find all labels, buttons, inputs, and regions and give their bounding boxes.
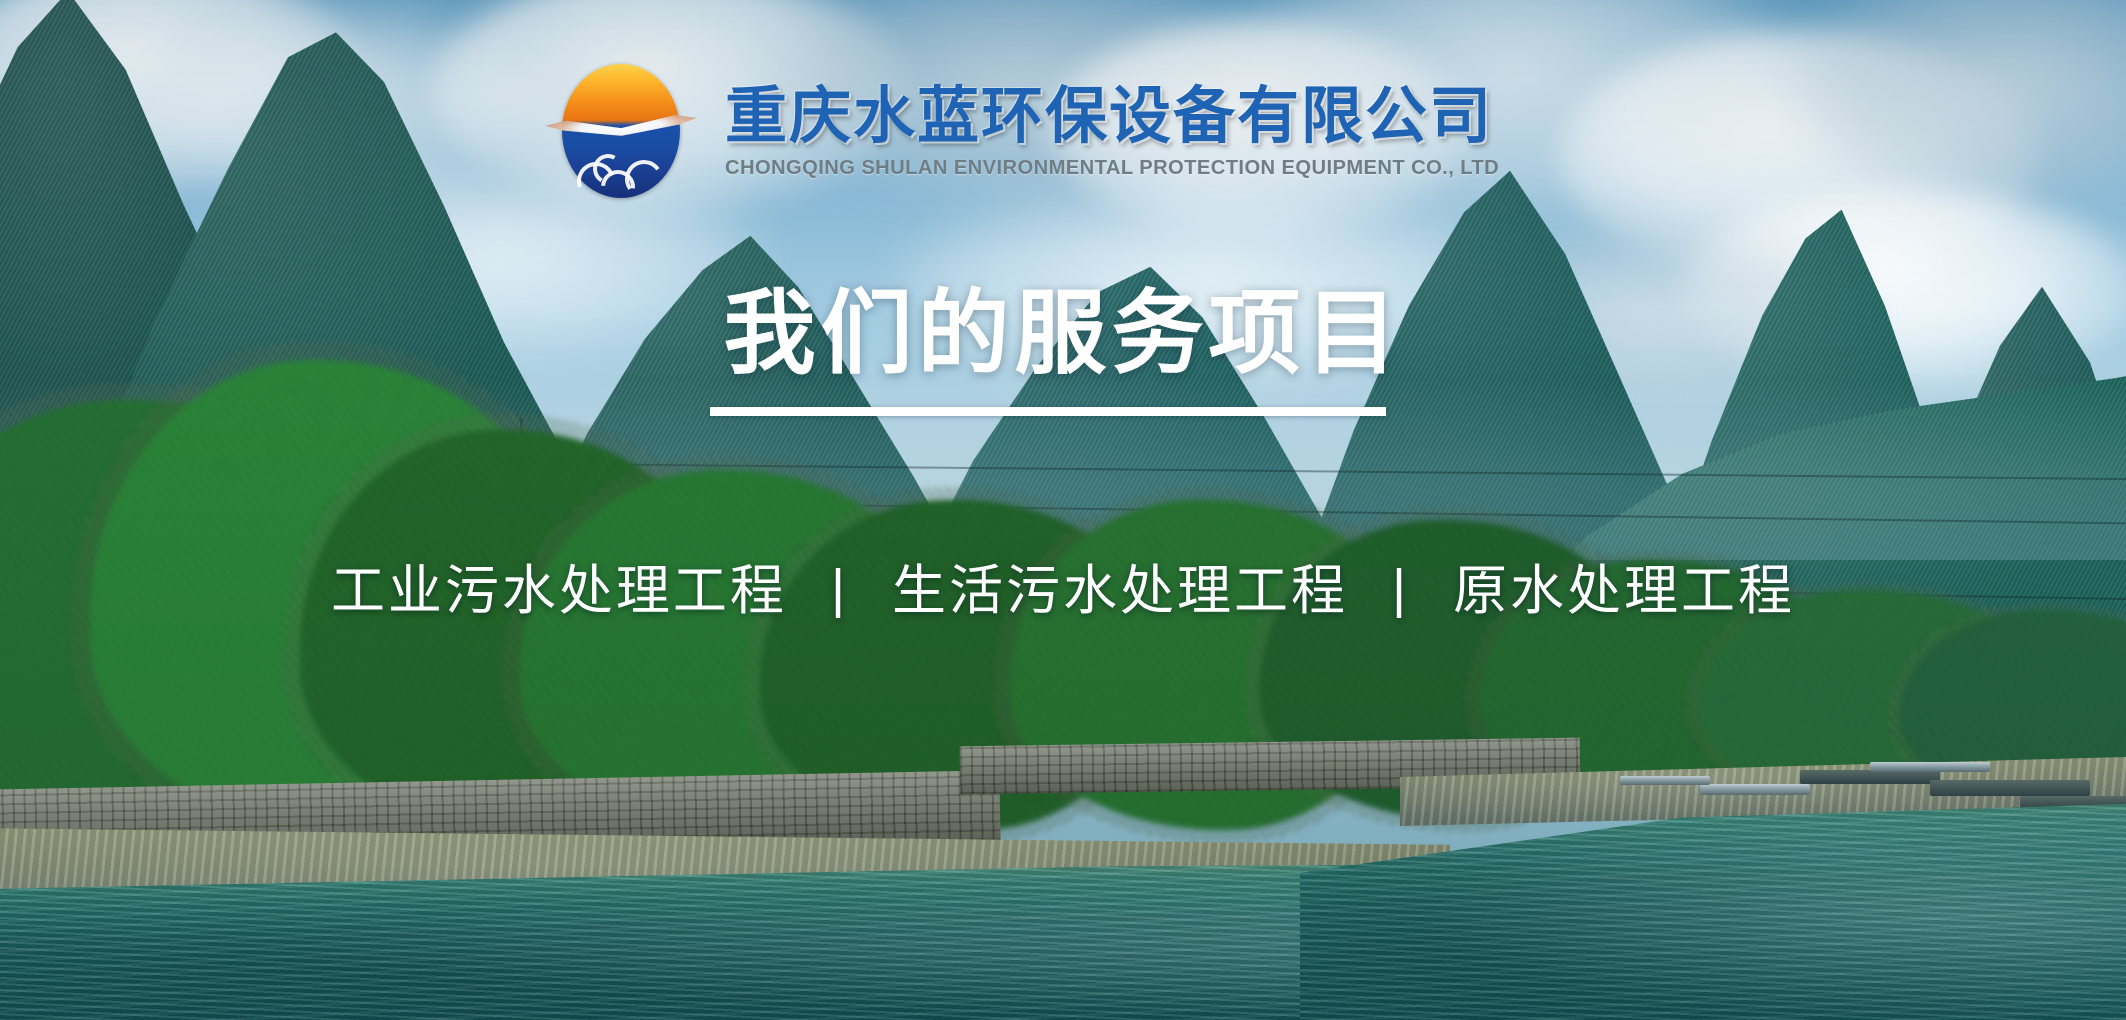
brand-text-block: 重庆水蓝环保设备有限公司 CHONGQING SHULAN ENVIRONMEN… [725, 84, 1511, 179]
page-title: 我们的服务项目 [0, 282, 2126, 388]
service-item-industrial: 工业污水处理工程 [331, 561, 787, 621]
service-separator: | [1392, 558, 1409, 620]
company-logo-icon [545, 56, 697, 208]
service-separator: | [831, 558, 848, 620]
company-name-en: CHONGQING SHULAN ENVIRONMENTAL PROTECTIO… [725, 156, 1499, 180]
service-item-domestic: 生活污水处理工程 [892, 561, 1348, 621]
service-item-rawwater: 原水处理工程 [1453, 561, 1795, 621]
logo-wave-icon [575, 152, 667, 198]
service-list: 工业污水处理工程 | 生活污水处理工程 | 原水处理工程 [0, 546, 2126, 625]
banner-content: 重庆水蓝环保设备有限公司 CHONGQING SHULAN ENVIRONMEN… [0, 0, 2126, 1020]
title-divider [710, 407, 1386, 416]
banner-hero: 重庆水蓝环保设备有限公司 CHONGQING SHULAN ENVIRONMEN… [0, 0, 2126, 1020]
company-name-cn: 重庆水蓝环保设备有限公司 [725, 84, 1511, 149]
brand-lockup: 重庆水蓝环保设备有限公司 CHONGQING SHULAN ENVIRONMEN… [545, 56, 1511, 208]
